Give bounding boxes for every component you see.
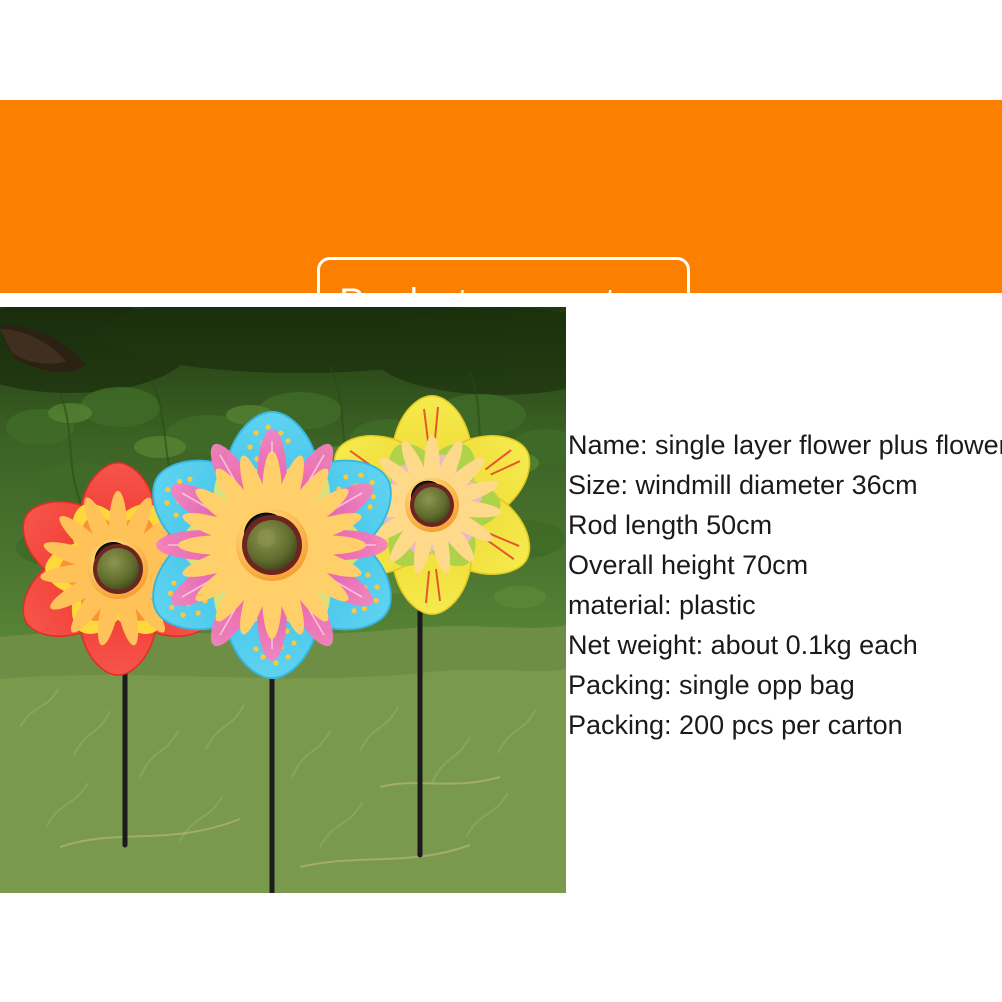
spec-line-material: material: plastic [568,585,1002,625]
spec-line-net-weight: Net weight: about 0.1kg each [568,625,1002,665]
garden-scene-illustration [0,307,566,893]
spec-line-size: Size: windmill diameter 36cm [568,465,1002,505]
spec-line-packing-bag: Packing: single opp bag [568,665,1002,705]
product-parameters-page: Product parameters [0,0,1002,1002]
product-photo [0,307,566,893]
spec-line-name: Name: single layer flower plus flower [568,425,1002,465]
section-banner: Product parameters [0,100,1002,293]
spec-line-overall-height: Overall height 70cm [568,545,1002,585]
spec-line-packing-carton: Packing: 200 pcs per carton [568,705,1002,745]
spec-list: Name: single layer flower plus flower Si… [568,425,1002,745]
spec-line-rod-length: Rod length 50cm [568,505,1002,545]
